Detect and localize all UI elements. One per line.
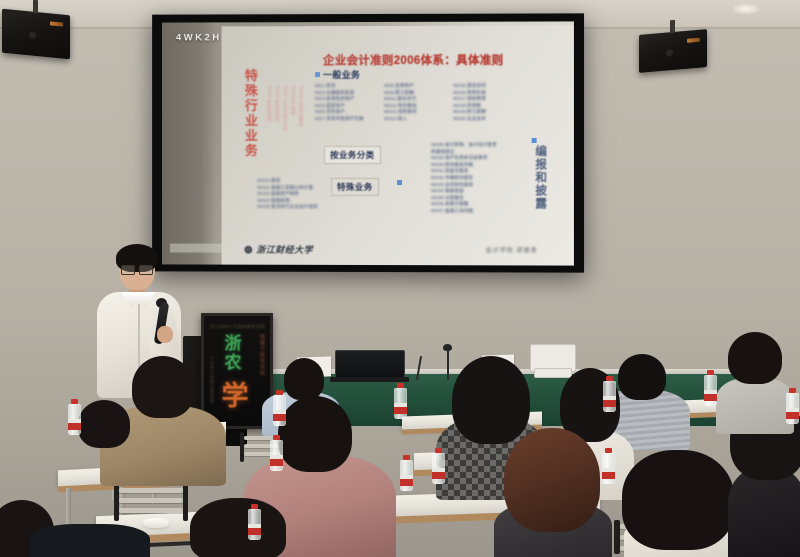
slide-footer-department: 会计学院 郑德贵: [486, 245, 538, 254]
list-item: NO29.资产负债表日后事项: [431, 155, 497, 162]
speaker-cone: [29, 31, 36, 39]
university-logo: 浙江财经大学: [243, 243, 313, 256]
audience-member: [716, 338, 794, 430]
bullet-square-icon: [315, 72, 320, 77]
list-item: NO13.或有事项: [384, 109, 417, 116]
chair-slat: [119, 488, 183, 493]
water-bottle: [786, 388, 799, 424]
water-bottle: [68, 399, 81, 435]
water-bottle: [400, 455, 413, 491]
screen-unlit-area: [162, 22, 217, 264]
glasses-lens-left: [121, 265, 135, 275]
list-item: NO15.建造合同: [453, 83, 486, 90]
slide-section-heading: 一般业务: [323, 68, 360, 81]
water-bottle: [704, 370, 717, 406]
bottle-label: [432, 468, 445, 479]
bottle-label: [68, 419, 81, 430]
bottle-label: [248, 524, 261, 535]
person-hair: [278, 396, 352, 472]
list-item: NO37.金融工具列报: [431, 208, 497, 215]
projection-screen-surface: 4WK2HY 企业会计准则2006体系：具体准则 特殊行业业务 NO25.原保险…: [162, 21, 574, 265]
list-item: NO17.借款费用: [453, 96, 486, 103]
list-item: NO6.生物资产: [384, 83, 417, 90]
speaker-bracket: [33, 0, 38, 13]
slide-vertical-left-title: 特殊行业业务: [241, 68, 261, 158]
bottle-label: [786, 408, 799, 419]
projection-screen: 4WK2HY 企业会计准则2006体系：具体准则 特殊行业业务 NO25.原保险…: [152, 13, 584, 272]
slide-item-column-1: NO1.存货 NO2.长期股权投资 NO3.投资性房地产 NO4.固定资产 NO…: [315, 83, 364, 123]
person-torso: [728, 468, 800, 557]
water-bottle: [432, 448, 445, 484]
wall-speaker-left-icon: [2, 9, 70, 60]
laptop-base: [330, 377, 409, 382]
vertical-label-3: NO27.石油天然气开采: [282, 86, 288, 172]
person-hair: [504, 428, 600, 532]
lecture-hall-photo: 4WK2HY 企业会计准则2006体系：具体准则 特殊行业业务 NO25.原保险…: [0, 0, 800, 557]
speaker-led: [687, 38, 700, 43]
glasses-icon: [121, 265, 153, 273]
water-bottle: [248, 504, 261, 540]
audience-member: [618, 450, 740, 557]
list-item: NO20.企业合并: [453, 116, 486, 123]
slide-title: 企业会计准则2006体系：具体准则: [273, 52, 554, 69]
speaker-bracket: [670, 20, 675, 33]
water-bottle: [603, 376, 616, 412]
list-item: NO14.收入: [384, 116, 417, 123]
laptop: [335, 350, 405, 380]
bottle-label: [704, 390, 717, 401]
audience-member: [494, 428, 612, 557]
list-item: NO7.非货币性资产交换: [315, 116, 364, 123]
ceiling-light: [733, 4, 759, 14]
wall-speaker-right-icon: [639, 29, 707, 73]
slide-vertical-right-title: 编报和披露: [533, 146, 550, 211]
bottle-label: [394, 403, 407, 414]
presentation-slide: 企业会计准则2006体系：具体准则 特殊行业业务 NO25.原保险合同 NO26…: [222, 25, 574, 265]
vertical-label-5: NO10.企业年金基金: [298, 86, 304, 172]
slide-disclosure-list: NO28.会计政策、会计估计变更 和差错更正 NO29.资产负债表日后事项 NO…: [431, 142, 497, 215]
person-hair: [78, 400, 130, 448]
slide-item-column-2: NO6.生物资产 NO9.职工薪酬 NO11.股份支付 NO12.债务重组 NO…: [384, 83, 417, 123]
slide-box-label-2: 特殊业务: [331, 178, 379, 196]
vertical-label-4: NO8.资产减值: [290, 86, 296, 172]
person-hair: [190, 498, 286, 557]
poster-main-text: 浙农: [220, 334, 246, 372]
person-hair: [728, 332, 782, 384]
list-item: NO38.首次执行企业会计准则: [257, 204, 317, 211]
person-hair: [132, 356, 194, 418]
audience-member: [30, 524, 150, 557]
person-torso: [716, 378, 794, 434]
bottle-label: [270, 455, 283, 466]
microphone-head-icon: [443, 344, 452, 351]
water-bottle: [270, 435, 283, 471]
speaker-led: [50, 21, 63, 26]
poster-side-text: 管理干部培训班: [259, 334, 266, 376]
bullet-square-icon-3: [397, 180, 402, 185]
chair-slat: [119, 508, 183, 513]
chair-frame: [183, 483, 188, 521]
bottle-label: [273, 410, 286, 421]
slide-special-industry-list: NO21.租赁 NO22.金融工具确认和计量 NO23.金融资产转移 NO24.…: [257, 178, 317, 211]
slide-item-column-3: NO15.建造合同 NO16.政府补助 NO17.借款费用 NO18.所得税 N…: [453, 83, 486, 123]
university-seal-icon: [243, 244, 253, 254]
bottle-label: [400, 475, 413, 486]
list-item: NO11.股份支付: [384, 96, 417, 103]
bullet-square-icon-2: [532, 138, 537, 143]
presenter-hand: [157, 326, 173, 343]
bottle-label: [603, 396, 616, 407]
chair: [114, 483, 188, 521]
person-hair: [622, 450, 734, 550]
vertical-label-1: NO25.原保险合同: [266, 86, 272, 172]
slide-footer: 浙江财经大学 会计学院 郑德贵: [222, 241, 574, 262]
university-name: 浙江财经大学: [256, 243, 313, 256]
chair-slat: [119, 498, 183, 503]
list-item: NO19.职工薪酬: [453, 109, 486, 116]
slide-box-label-1: 按业务分类: [324, 146, 380, 164]
vertical-label-2: NO26.再保险合同: [274, 86, 280, 172]
poster-top-line: 浙江农林大学继续教育学院: [210, 324, 265, 330]
person-torso: [30, 524, 150, 557]
person-hair: [284, 358, 324, 400]
water-bottle: [602, 448, 615, 484]
presenter-shirt-placket: [138, 304, 140, 374]
glasses-lens-right: [139, 265, 153, 275]
bottle-label: [602, 468, 615, 479]
audience-member: [190, 498, 286, 557]
water-bottle: [394, 383, 407, 419]
water-bottle: [273, 390, 286, 426]
audience-member: [78, 400, 130, 448]
list-item: NO28.会计政策、会计估计变更: [431, 142, 497, 149]
speaker-cone: [666, 49, 673, 57]
